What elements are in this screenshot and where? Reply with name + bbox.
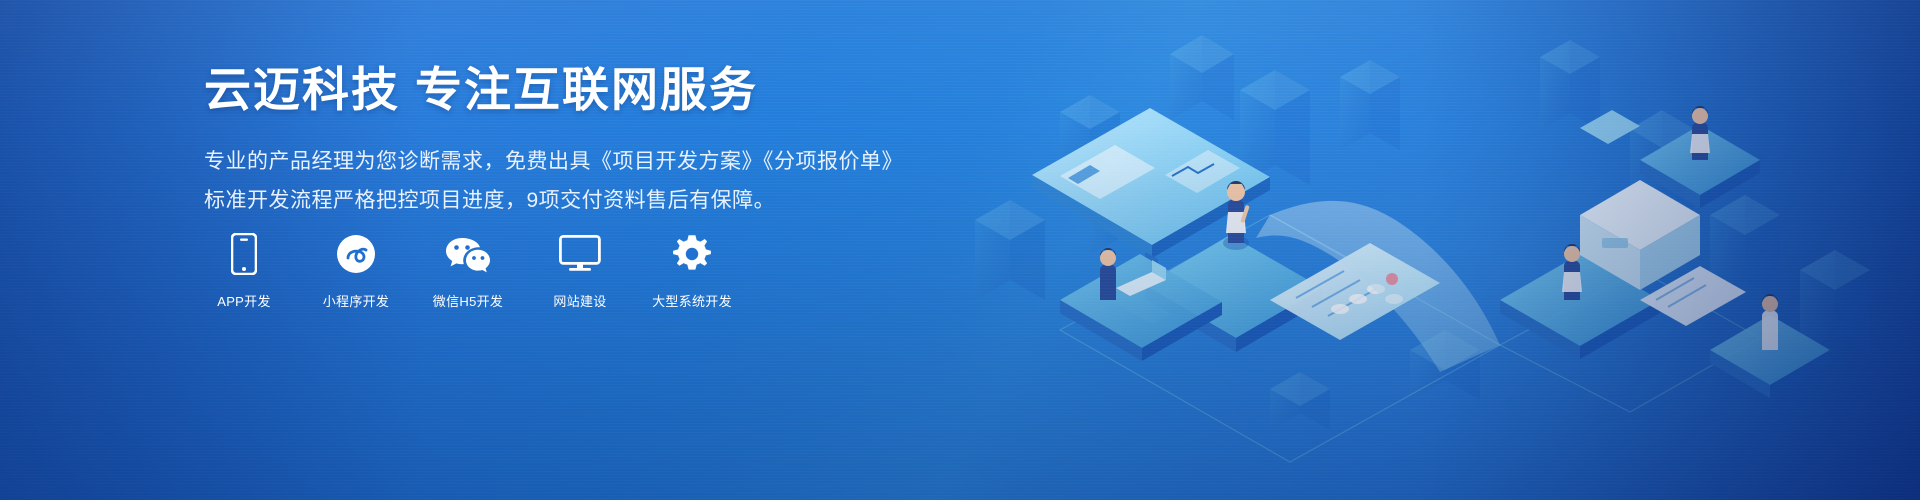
gear-icon <box>671 232 713 276</box>
monitor-icon <box>559 232 601 276</box>
page-title: 云迈科技 专注互联网服务 <box>204 62 964 117</box>
service-label: APP开发 <box>217 291 271 310</box>
service-label: 网站建设 <box>553 291 606 310</box>
mobile-phone-icon <box>231 232 257 276</box>
subtitle-line-1: 专业的产品经理为您诊断需求，免费出具《项目开发方案》《分项报价单》 <box>204 143 964 182</box>
service-label: 微信H5开发 <box>433 291 503 310</box>
subtitle-line-2: 标准开发流程严格把控项目进度，9项交付资料售后有保障。 <box>204 182 964 221</box>
service-item-website[interactable]: 网站建设 <box>541 232 619 310</box>
mini-program-icon <box>335 232 377 276</box>
service-item-large-system[interactable]: 大型系统开发 <box>653 232 731 310</box>
wechat-icon <box>445 232 491 276</box>
hero-copy: 云迈科技 专注互联网服务 专业的产品经理为您诊断需求，免费出具《项目开发方案》《… <box>204 62 964 221</box>
service-item-app[interactable]: APP开发 <box>205 232 283 310</box>
service-label: 小程序开发 <box>323 291 390 310</box>
isometric-illustration <box>940 0 1920 500</box>
hero-subtitle: 专业的产品经理为您诊断需求，免费出具《项目开发方案》《分项报价单》 标准开发流程… <box>204 143 964 221</box>
service-item-wechat-h5[interactable]: 微信H5开发 <box>429 232 507 310</box>
service-list: APP开发 小程序开发 微信 <box>205 232 731 310</box>
service-item-mini-program[interactable]: 小程序开发 <box>317 232 395 310</box>
hero-banner: 云迈科技 专注互联网服务 专业的产品经理为您诊断需求，免费出具《项目开发方案》《… <box>0 0 1920 500</box>
service-label: 大型系统开发 <box>652 291 732 310</box>
